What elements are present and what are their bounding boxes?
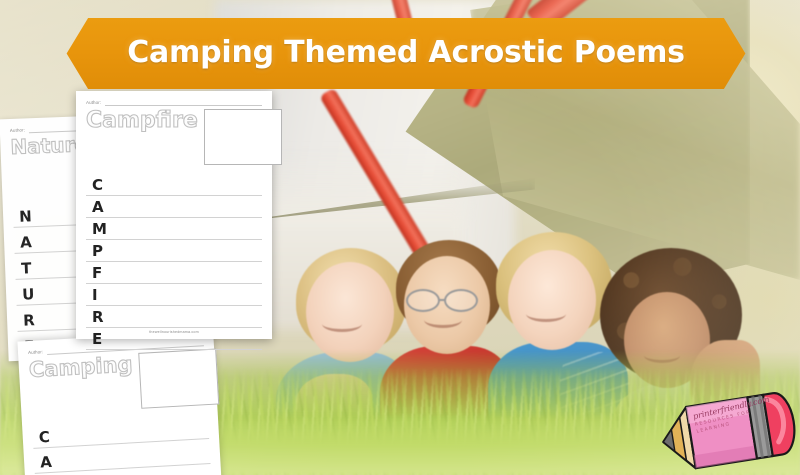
worksheet-content: Author: Campfire C A M P F I R E thewell…	[76, 91, 272, 339]
worksheet-camping[interactable]: Author: Camping C A M P I	[17, 331, 222, 475]
acrostic-line[interactable]: M	[86, 218, 262, 240]
acrostic-lines: C A M P I	[32, 414, 215, 475]
acrostic-letter: R	[23, 313, 35, 330]
worksheet-word: Camping	[28, 353, 133, 381]
author-label: Author:	[10, 127, 25, 133]
drawing-box[interactable]	[204, 109, 282, 165]
author-row: Author:	[86, 99, 262, 106]
acrostic-letter: A	[92, 200, 104, 217]
acrostic-letter: M	[92, 222, 107, 239]
acrostic-line[interactable]: I	[86, 284, 262, 306]
acrostic-letter: F	[92, 266, 102, 283]
worksheet-word: Campfire	[86, 109, 198, 132]
acrostic-letter: R	[92, 310, 104, 327]
acrostic-letter: E	[92, 332, 102, 349]
worksheet-title-row: Campfire	[86, 109, 262, 165]
acrostic-line[interactable]: R	[86, 306, 262, 328]
acrostic-letter: A	[40, 455, 53, 473]
acrostic-letter: U	[22, 287, 35, 304]
title-banner: Camping Themed Acrostic Poems	[48, 18, 764, 89]
author-input-line[interactable]	[105, 99, 262, 106]
acrostic-lines: C A M P F I R E	[86, 174, 262, 350]
acrostic-letter: I	[92, 288, 98, 305]
acrostic-line[interactable]: F	[86, 262, 262, 284]
worksheet-campfire[interactable]: Author: Campfire C A M P F I R E thewell…	[76, 91, 272, 339]
acrostic-letter: N	[19, 209, 32, 226]
author-label: Author:	[86, 100, 101, 105]
drawing-box[interactable]	[138, 349, 219, 409]
author-label: Author:	[28, 349, 43, 355]
page-title: Camping Themed Acrostic Poems	[127, 35, 685, 70]
acrostic-letter: A	[20, 235, 32, 252]
acrostic-letter: T	[21, 261, 32, 278]
worksheet-footer: thewellnourishedmama.com	[76, 330, 272, 334]
acrostic-letter: C	[92, 178, 103, 195]
acrostic-line[interactable]: C	[86, 174, 262, 196]
page-root: Author: Nature N A T U R E thewellnouris…	[0, 0, 800, 475]
worksheet-content: Author: Camping C A M P I	[17, 331, 222, 475]
acrostic-line[interactable]: P	[86, 240, 262, 262]
acrostic-line[interactable]: A	[86, 196, 262, 218]
acrostic-letter: P	[92, 244, 103, 261]
acrostic-letter: C	[38, 430, 50, 448]
worksheet-title-row: Camping	[28, 349, 207, 415]
